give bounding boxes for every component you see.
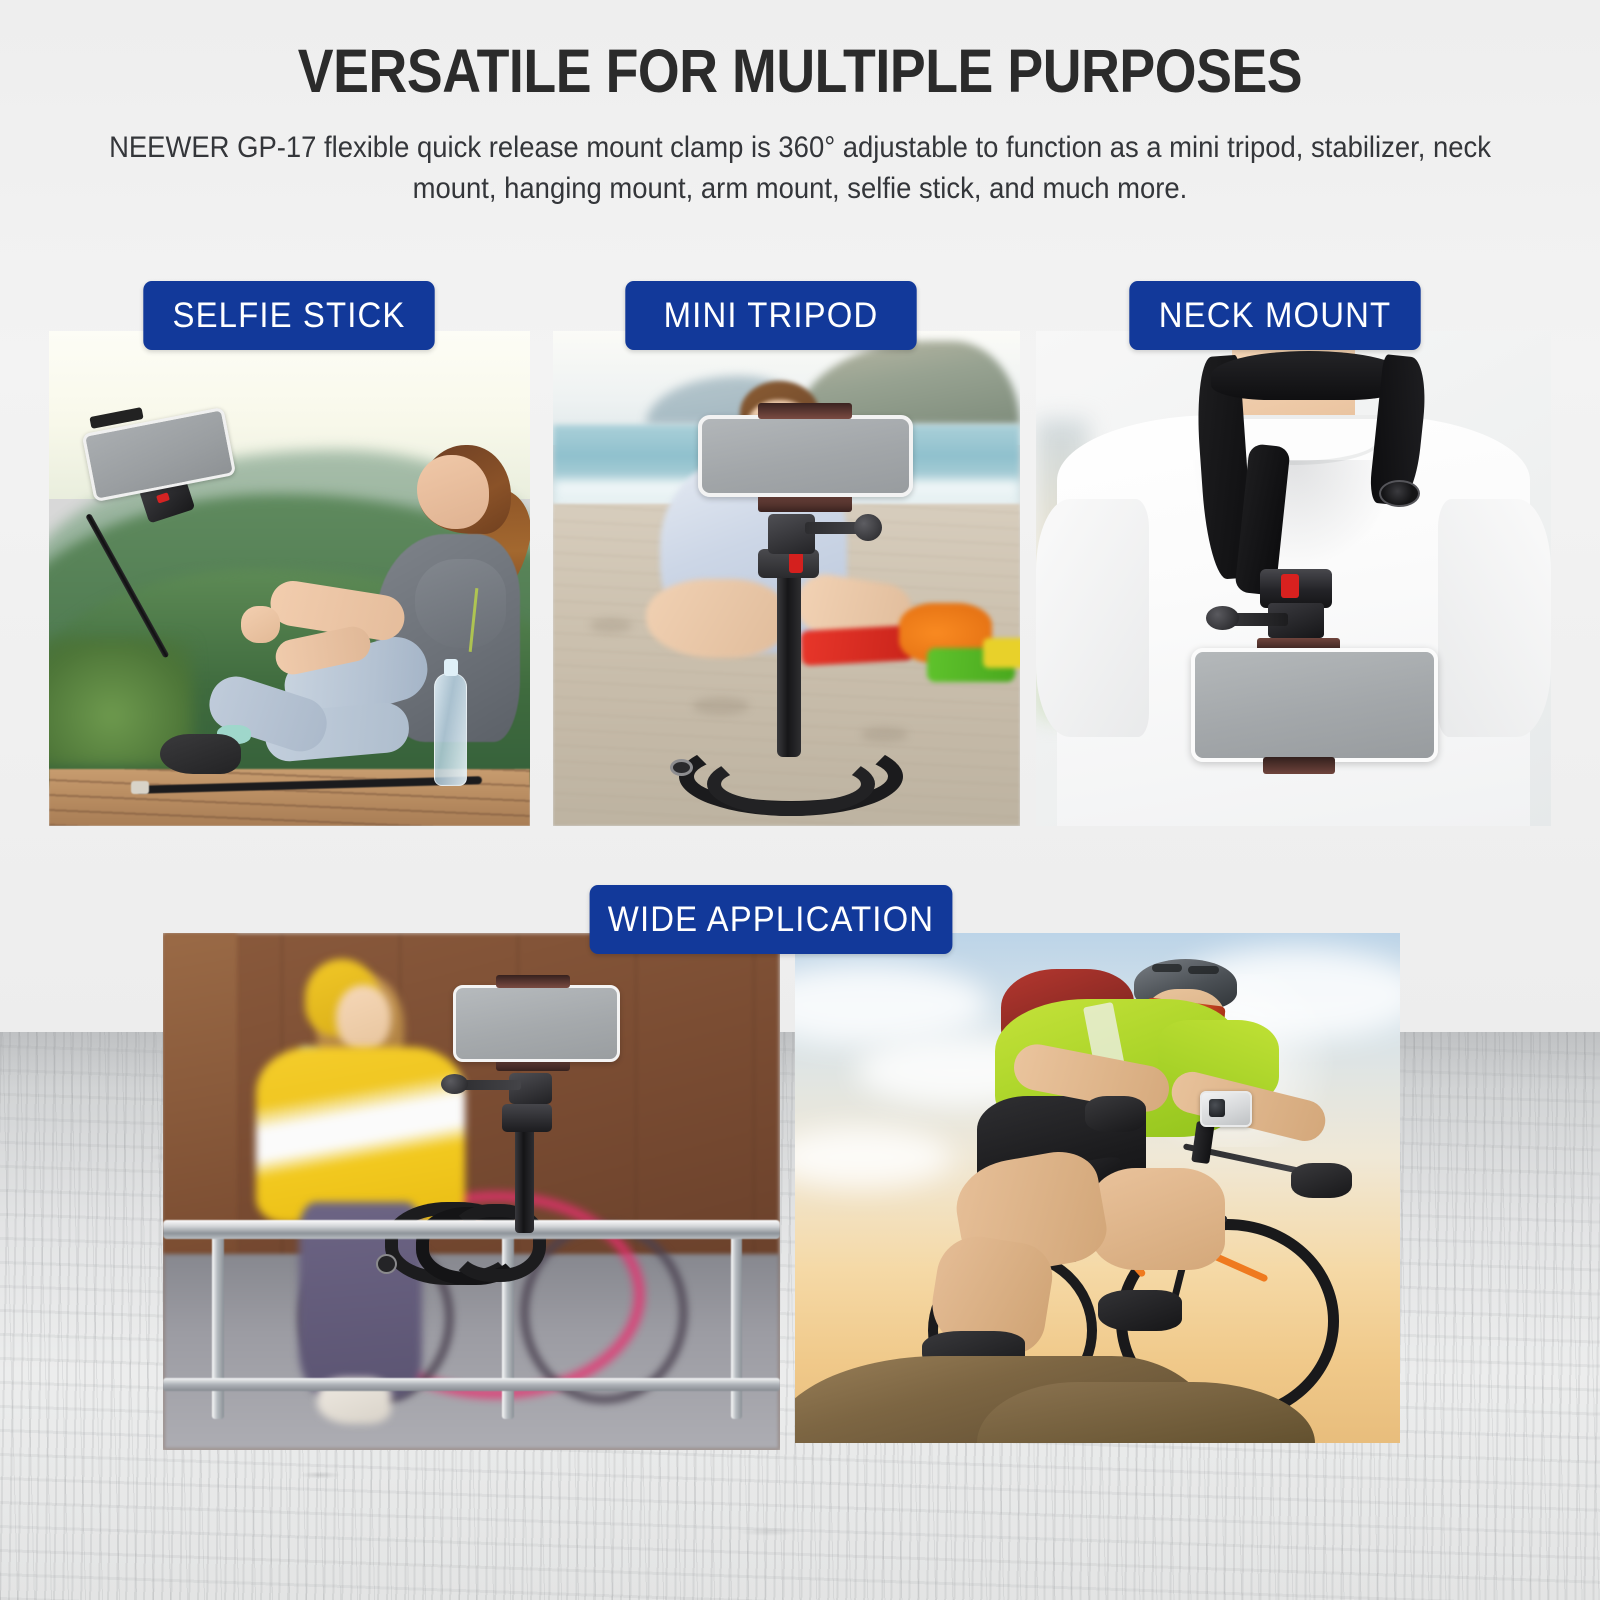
badge-mini-tripod: MINI TRIPOD [625,281,916,350]
bicycle-wheel-front [521,1223,688,1404]
helmet-vent [1188,966,1218,974]
cycling-glove-left [1085,1096,1146,1132]
wide-application-railing-photo [163,933,780,1450]
phone-clamp-top [758,403,851,419]
woman-face [336,985,392,1052]
selfie-stick-photo [49,331,530,826]
wall-panel [163,933,237,1254]
railing-top-bar [163,1220,780,1239]
locking-collar [502,1104,551,1132]
cycling-glove-right [1291,1163,1352,1199]
rider-far-thigh [1091,1168,1224,1270]
helmet-vent [1152,964,1182,972]
hand [241,606,279,643]
left-sleeve [1036,499,1149,737]
sand-mark [861,727,908,742]
right-sleeve [1438,499,1551,737]
action-camera [1200,1091,1251,1127]
child-leg [646,579,786,658]
trekking-pole-tip [131,781,149,794]
hiking-shoe [160,734,242,774]
neck-mount-photo [1036,331,1551,826]
badge-neck-mount: NECK MOUNT [1129,281,1420,350]
badge-selfie-stick: SELFIE STICK [143,281,434,350]
gooseneck-stem [515,1119,535,1233]
camera-lens [1209,1099,1225,1117]
page-description: NEEWER GP-17 flexible quick release moun… [103,128,1498,209]
sand-mark [693,697,749,714]
railing-lower-bar [163,1378,780,1391]
sand-mark [590,618,632,633]
phone-clamp-top [496,975,570,987]
gooseneck-coil-inner [707,752,875,816]
mini-tripod-photo [553,331,1020,826]
foam-collar-end-cap [1379,480,1420,507]
header: VERSATILE FOR MULTIPLE PURPOSES NEEWER G… [0,0,1600,209]
mounted-phone [698,415,913,497]
sleeve [415,559,506,648]
phone-clamp-bottom [1263,757,1335,774]
yellow-white-sweater [256,1047,466,1223]
rider-far-shoe [1098,1290,1183,1331]
mounted-phone [1191,648,1438,762]
yellow-beach-toy [983,638,1020,668]
head [417,455,489,529]
mounted-phone [453,985,620,1063]
red-release-button [1281,574,1299,599]
foam-collar-back [1211,351,1407,401]
wide-application-cyclist-photo [795,933,1400,1443]
phone-clamp-bottom [758,494,851,511]
red-release-button [789,552,803,573]
water-bottle [434,673,468,787]
badge-wide-application: WIDE APPLICATION [590,885,953,954]
gooseneck-stem [777,569,800,757]
page-title: VERSATILE FOR MULTIPLE PURPOSES [96,0,1504,106]
red-beach-toy [800,625,914,665]
